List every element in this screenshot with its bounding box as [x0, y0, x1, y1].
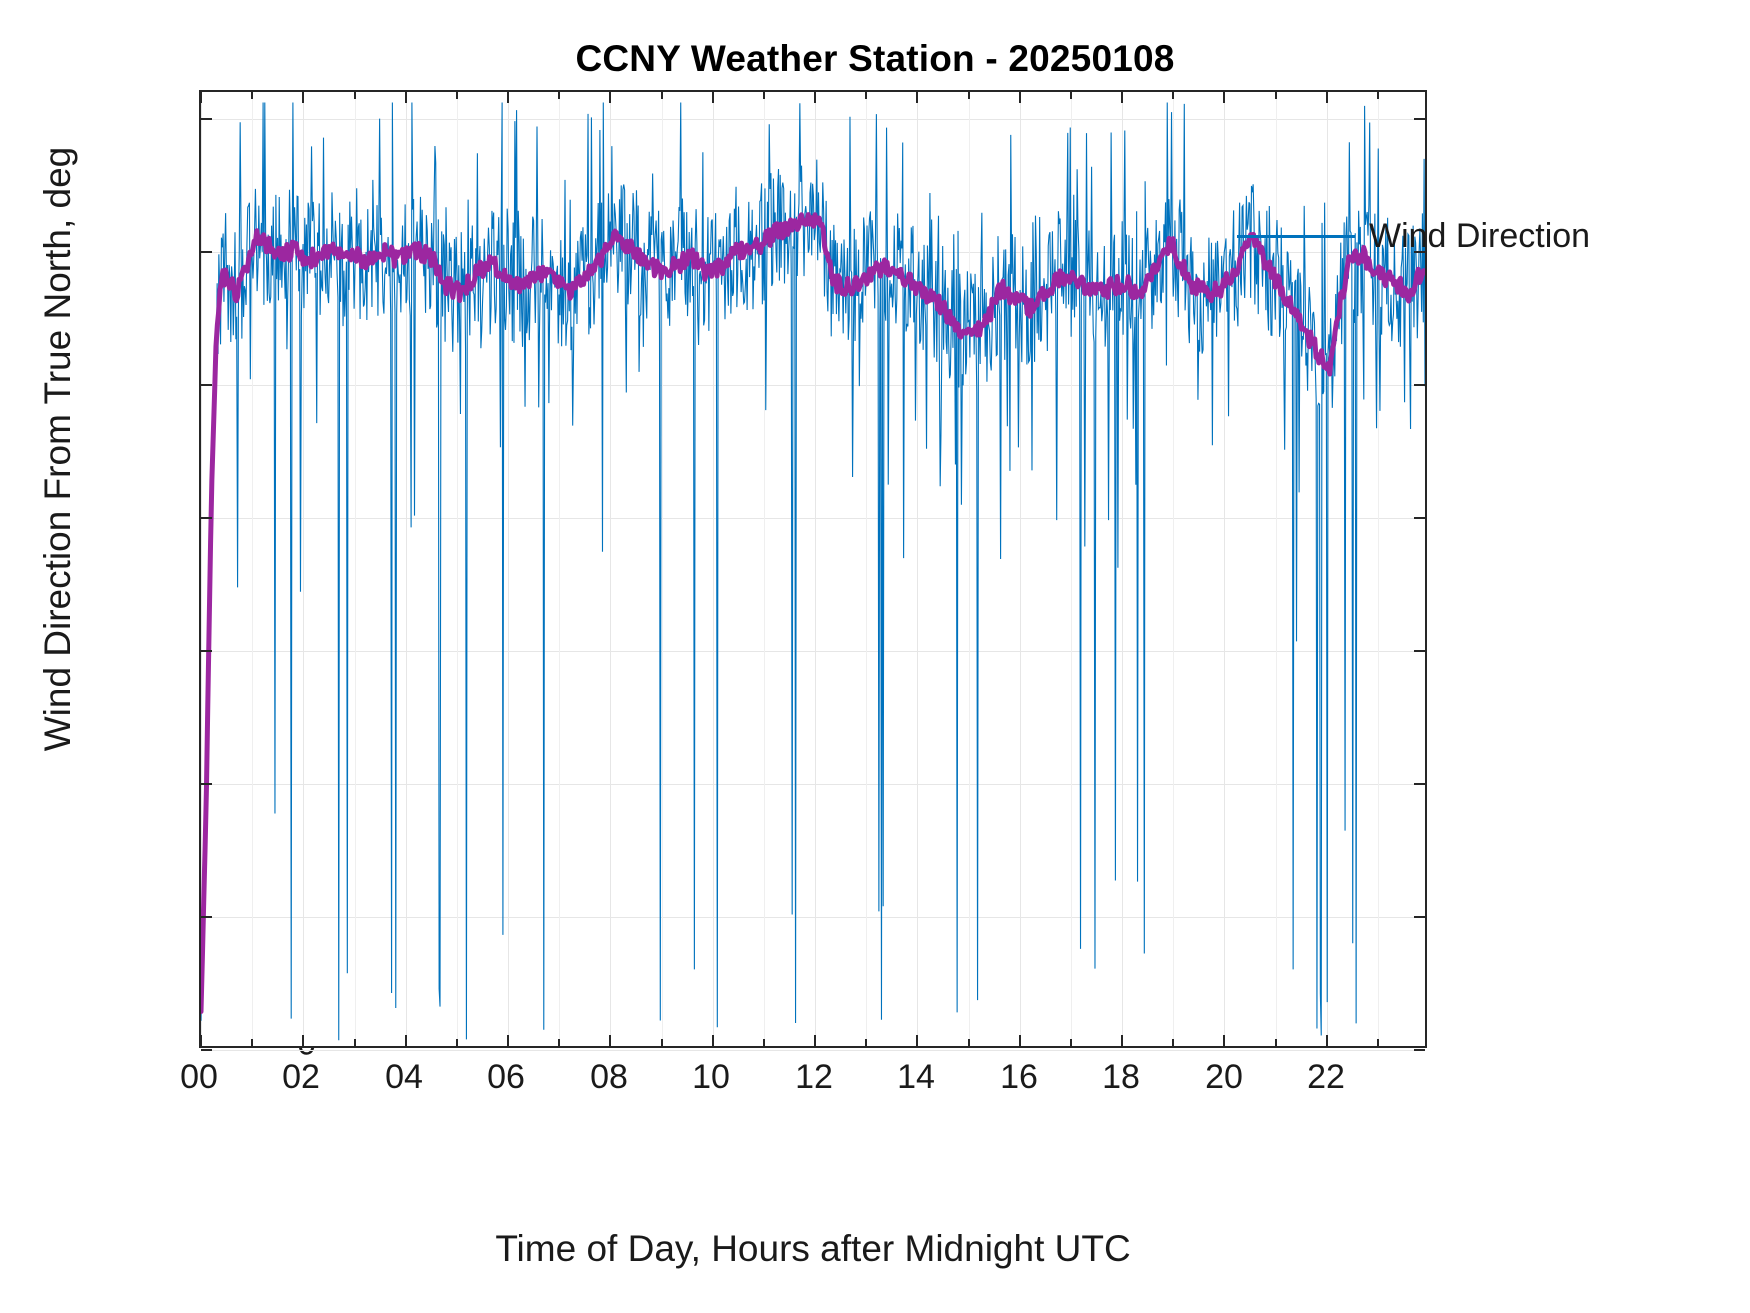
y-tick-mark [1414, 384, 1425, 386]
x-minor-tick-mark [1275, 1039, 1277, 1046]
y-tick-mark [201, 118, 212, 120]
x-tick-mark [712, 92, 714, 103]
x-tick-mark [302, 92, 304, 103]
legend-label: Wind Direction [1369, 217, 1590, 256]
y-tick-mark [1414, 517, 1425, 519]
x-tick-mark [916, 92, 918, 103]
grid-line-horizontal [201, 1050, 1425, 1051]
x-tick-label: 22 [1307, 1058, 1345, 1097]
legend-line-swatch [1237, 235, 1355, 238]
y-axis-label: Wind Direction From True North, deg [37, 0, 79, 899]
x-tick-mark [609, 92, 611, 103]
x-tick-mark [814, 1035, 816, 1046]
x-tick-mark [1223, 1035, 1225, 1046]
x-tick-mark [200, 92, 202, 103]
x-tick-label: 20 [1205, 1058, 1243, 1097]
x-minor-tick-mark [661, 92, 663, 99]
x-minor-tick-mark [763, 1039, 765, 1046]
x-minor-tick-mark [661, 1039, 663, 1046]
x-tick-label: 00 [180, 1058, 218, 1097]
x-tick-mark [916, 1035, 918, 1046]
y-tick-mark [201, 783, 212, 785]
x-tick-mark [507, 92, 509, 103]
x-axis-label: Time of Day, Hours after Midnight UTC [199, 1228, 1427, 1270]
y-tick-mark [201, 916, 212, 918]
x-tick-mark [712, 1035, 714, 1046]
x-minor-tick-mark [251, 1039, 253, 1046]
y-tick-mark [201, 1049, 212, 1051]
x-tick-mark [405, 92, 407, 103]
x-tick-mark [1019, 92, 1021, 103]
x-tick-mark [200, 1035, 202, 1046]
x-tick-label: 12 [795, 1058, 833, 1097]
y-tick-mark [1414, 650, 1425, 652]
x-minor-tick-mark [1172, 92, 1174, 99]
y-tick-mark [1414, 1049, 1425, 1051]
x-tick-mark [405, 1035, 407, 1046]
x-minor-tick-mark [1275, 92, 1277, 99]
x-tick-label: 16 [1000, 1058, 1038, 1097]
x-minor-tick-mark [865, 92, 867, 99]
y-tick-mark [201, 384, 212, 386]
x-tick-mark [1019, 1035, 1021, 1046]
x-tick-mark [609, 1035, 611, 1046]
y-tick-mark [1414, 118, 1425, 120]
x-tick-mark [1121, 92, 1123, 103]
x-minor-tick-mark [456, 1039, 458, 1046]
x-tick-mark [1326, 92, 1328, 103]
x-minor-tick-mark [456, 92, 458, 99]
chart-title: CCNY Weather Station - 20250108 [0, 38, 1750, 80]
x-minor-tick-mark [251, 92, 253, 99]
x-tick-label: 18 [1102, 1058, 1140, 1097]
x-minor-tick-mark [558, 92, 560, 99]
x-minor-tick-mark [1070, 92, 1072, 99]
x-tick-mark [507, 1035, 509, 1046]
y-tick-mark [1414, 783, 1425, 785]
x-minor-tick-mark [763, 92, 765, 99]
y-tick-mark [201, 251, 212, 253]
x-minor-tick-mark [354, 92, 356, 99]
x-tick-mark [1121, 1035, 1123, 1046]
x-minor-tick-mark [1377, 1039, 1379, 1046]
x-tick-mark [1223, 92, 1225, 103]
x-minor-tick-mark [1070, 1039, 1072, 1046]
x-minor-tick-mark [1377, 92, 1379, 99]
y-tick-mark [1414, 916, 1425, 918]
x-tick-mark [814, 92, 816, 103]
x-tick-label: 08 [590, 1058, 628, 1097]
x-tick-label: 04 [385, 1058, 423, 1097]
x-minor-tick-mark [558, 1039, 560, 1046]
chart-legend[interactable]: Wind Direction [1231, 208, 1596, 264]
x-minor-tick-mark [968, 92, 970, 99]
x-tick-label: 02 [282, 1058, 320, 1097]
x-tick-label: 06 [487, 1058, 525, 1097]
x-tick-label: 14 [897, 1058, 935, 1097]
plot-area: Wind Direction [199, 90, 1427, 1048]
chart-figure: CCNY Weather Station - 20250108 350 300 … [0, 0, 1750, 1313]
y-tick-mark [201, 650, 212, 652]
y-tick-mark [201, 517, 212, 519]
x-minor-tick-mark [354, 1039, 356, 1046]
x-tick-mark [1326, 1035, 1328, 1046]
x-tick-label: 10 [692, 1058, 730, 1097]
x-minor-tick-mark [968, 1039, 970, 1046]
x-minor-tick-mark [1172, 1039, 1174, 1046]
x-tick-mark [302, 1035, 304, 1046]
x-minor-tick-mark [865, 1039, 867, 1046]
